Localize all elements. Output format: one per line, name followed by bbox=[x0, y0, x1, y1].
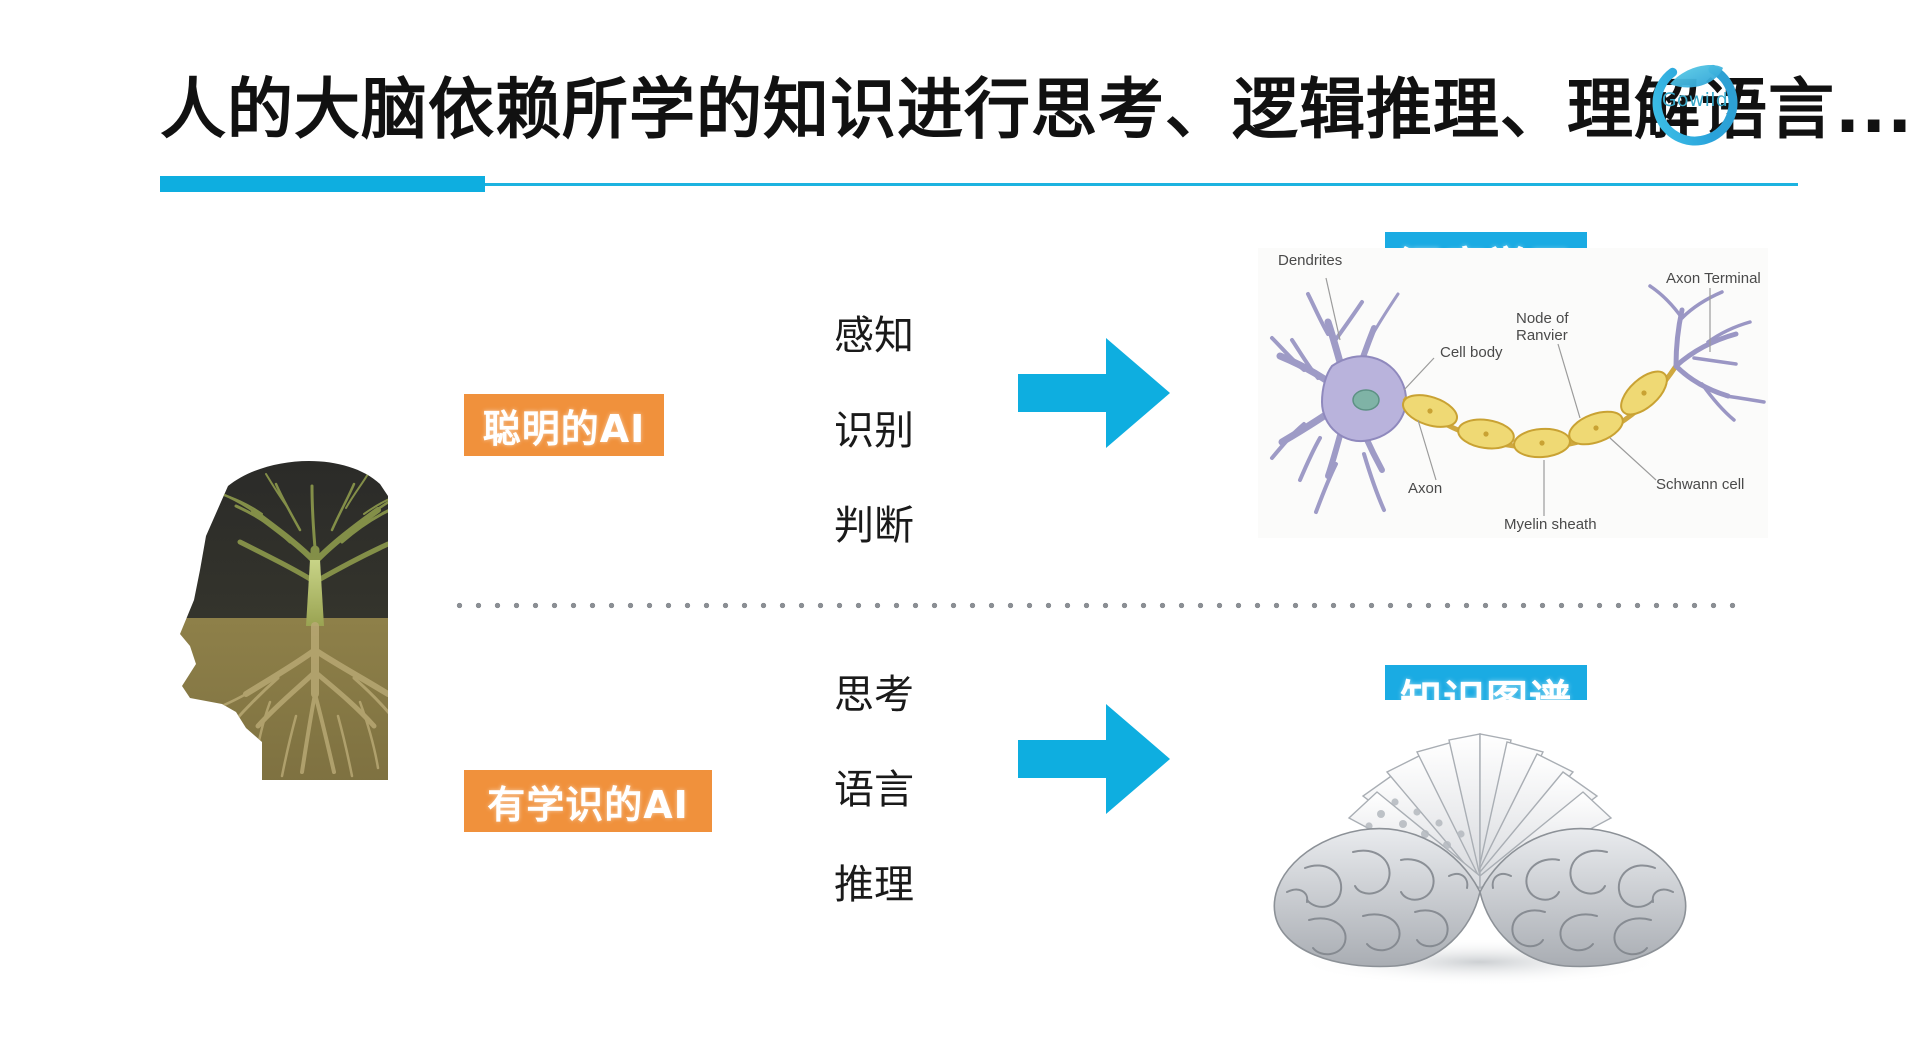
section-divider bbox=[450, 602, 1747, 609]
word-column-perception: 感知 识别 判断 bbox=[834, 316, 1014, 554]
chip-learned-ai[interactable]: 有学识的AI bbox=[464, 770, 712, 832]
word-perceive: 感知 bbox=[834, 316, 1014, 364]
title-underline-thick bbox=[160, 176, 485, 192]
word-think: 思考 bbox=[834, 675, 1014, 723]
neuron-label-axon: Axon bbox=[1408, 480, 1442, 497]
head-with-tree-image bbox=[150, 450, 415, 795]
word-language: 语言 bbox=[834, 770, 1014, 818]
brain-book-icon bbox=[1245, 700, 1715, 990]
word-reason: 推理 bbox=[834, 865, 1014, 913]
arrow-right-knowledge-graph bbox=[1018, 700, 1170, 818]
right-arrow-icon bbox=[1018, 334, 1170, 452]
neuron-label-cell-body: Cell body bbox=[1440, 344, 1503, 361]
slide-canvas: 人的大脑依赖所学的知识进行思考、逻辑推理、理解语言... Gowild bbox=[0, 0, 1917, 1038]
word-judge: 判断 bbox=[834, 506, 1014, 554]
brain-book-image bbox=[1245, 700, 1715, 990]
title-underline-thin bbox=[485, 183, 1798, 186]
neuron-diagram-image: Dendrites Cell body Axon Node of Ranvier… bbox=[1258, 248, 1768, 538]
neuron-label-axon-terminal: Axon Terminal bbox=[1666, 270, 1761, 287]
neuron-label-node-of-ranvier: Node of Ranvier bbox=[1516, 310, 1608, 345]
arrow-right-deep-learning bbox=[1018, 334, 1170, 452]
right-arrow-icon bbox=[1018, 700, 1170, 818]
neuron-label-schwann-cell: Schwann cell bbox=[1656, 476, 1744, 493]
title-row: 人的大脑依赖所学的知识进行思考、逻辑推理、理解语言... bbox=[160, 55, 1800, 165]
head-with-tree-icon bbox=[150, 450, 415, 795]
chip-smart-ai[interactable]: 聪明的AI bbox=[464, 394, 664, 456]
neuron-label-dendrites: Dendrites bbox=[1278, 252, 1342, 269]
gowild-logo-text: Gowild bbox=[1643, 48, 1747, 152]
neuron-diagram-icon bbox=[1258, 248, 1768, 538]
word-recognize: 识别 bbox=[834, 411, 1014, 459]
neuron-label-myelin-sheath: Myelin sheath bbox=[1504, 516, 1597, 533]
gowild-logo: Gowild bbox=[1643, 48, 1747, 152]
word-column-knowledge: 思考 语言 推理 bbox=[834, 675, 1014, 913]
